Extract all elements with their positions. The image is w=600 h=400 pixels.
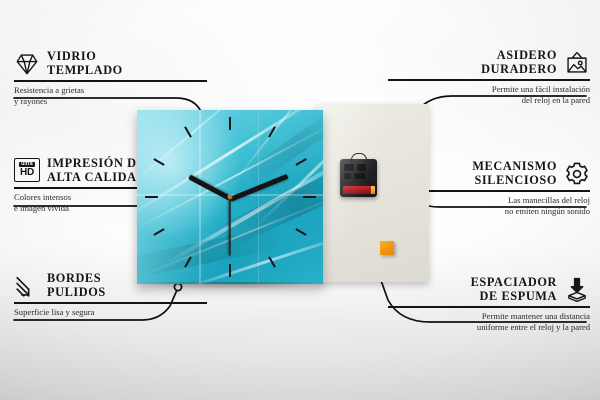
- feature-title-line1: BORDES: [47, 272, 101, 286]
- feature-description: Permite una fácil instalación del reloj …: [385, 84, 590, 106]
- infographic-canvas: VIDRIO TEMPLADO Resistencia a grietas y …: [0, 0, 600, 400]
- feature-title-line2: TEMPLADO: [47, 64, 123, 78]
- foam-spacer: [380, 241, 394, 255]
- feature-title: VIDRIO TEMPLADO: [47, 50, 123, 77]
- diamond-icon: [14, 51, 40, 77]
- battery-terminal: [371, 186, 375, 194]
- movement-vent: [344, 173, 351, 179]
- feature-header: ASIDERO DURADERO: [385, 49, 590, 76]
- feature-title-line2: DURADERO: [481, 63, 557, 77]
- movement-vent: [354, 173, 365, 179]
- foam-spacer-arrow-icon: [564, 277, 590, 303]
- clock-movement: [340, 159, 377, 197]
- gear-icon: [564, 161, 590, 187]
- second-hand: [229, 198, 231, 256]
- feature-title-line1: ASIDERO: [497, 49, 557, 63]
- clock-face: [137, 110, 323, 284]
- movement-vent: [357, 164, 366, 171]
- feature-title-line2: SILENCIOSO: [474, 174, 557, 188]
- feature-title-line2: PULIDOS: [47, 286, 106, 300]
- feature-title-line1: ESPACIADOR: [471, 276, 557, 290]
- feature-title-line1: IMPRESIÓN DE: [47, 157, 145, 171]
- feature-title-line1: MECANISMO: [472, 160, 557, 174]
- feature-title-line1: VIDRIO: [47, 50, 96, 64]
- feature-description: Superficie lisa y segura: [14, 307, 210, 318]
- glass-reflection-line: [199, 110, 201, 284]
- feature-title: BORDES PULIDOS: [47, 272, 106, 299]
- ultra-hd-icon-main-label: HD: [20, 168, 34, 178]
- hour-marker: [145, 196, 158, 198]
- divider: [388, 306, 590, 308]
- battery: [343, 186, 374, 194]
- feature-vidrio-templado: VIDRIO TEMPLADO Resistencia a grietas y …: [14, 50, 210, 107]
- feature-title-line2: DE ESPUMA: [480, 290, 557, 304]
- hour-marker: [229, 117, 231, 130]
- feature-title: ESPACIADOR DE ESPUMA: [471, 276, 557, 303]
- feature-title: IMPRESIÓN DE ALTA CALIDAD: [47, 157, 146, 184]
- clock-drop-shadow: [139, 282, 325, 290]
- ultra-hd-icon-top-label: ultra: [19, 162, 35, 167]
- hour-marker: [303, 196, 316, 198]
- divider: [14, 80, 207, 82]
- divider: [14, 302, 207, 304]
- clock-center-hub: [228, 195, 233, 200]
- feature-title: MECANISMO SILENCIOSO: [472, 160, 557, 187]
- wall-hanger-frame-icon: [564, 50, 590, 76]
- feature-asidero-duradero: ASIDERO DURADERO Permite una fácil insta…: [385, 49, 590, 106]
- product-image: [137, 104, 429, 294]
- clock-back-panel: [317, 104, 429, 282]
- feature-description: Permite mantener una distancia uniforme …: [385, 311, 590, 333]
- feature-title-line2: ALTA CALIDAD: [47, 171, 146, 185]
- feature-header: VIDRIO TEMPLADO: [14, 50, 210, 77]
- hour-marker: [229, 264, 231, 277]
- divider: [388, 79, 590, 81]
- hanger-hook: [351, 153, 367, 162]
- feature-title: ASIDERO DURADERO: [481, 49, 557, 76]
- ultra-hd-icon: ultra HD: [14, 158, 40, 184]
- movement-vent: [344, 164, 354, 171]
- glass-reflection-line: [258, 110, 259, 284]
- polished-edges-icon: [14, 273, 40, 299]
